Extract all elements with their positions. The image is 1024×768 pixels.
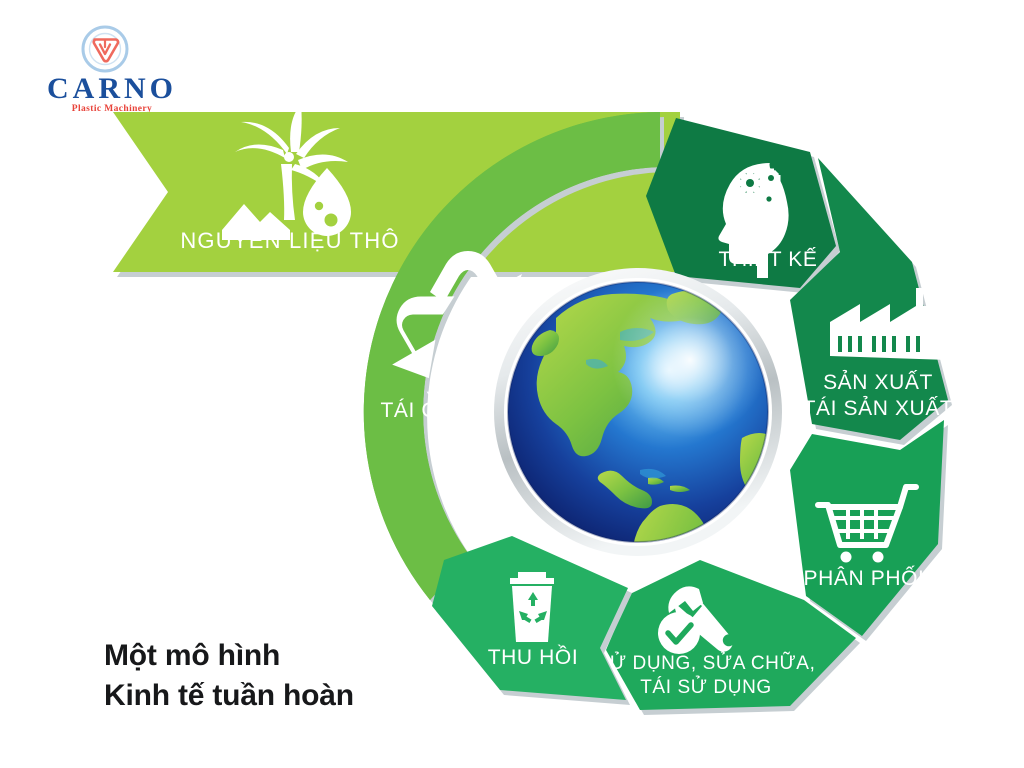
- segment-label-nguyen-lieu-tho: NGUYÊN LIỆU THÔ: [180, 228, 399, 253]
- recycle-bin-icon: [510, 572, 554, 642]
- segment-label-san-xuat-line2: TÁI SẢN XUẤT: [803, 397, 954, 420]
- segment-label-su-dung: SỬ DỤNG, SỬA CHỮA,: [597, 652, 816, 674]
- segment-label-tai-che: TÁI CHẾ: [380, 399, 467, 422]
- segment-label-phan-phoi: PHÂN PHỐI: [804, 566, 925, 590]
- segment-label-san-xuat: SẢN XUẤT: [823, 371, 933, 394]
- segment-label-su-dung-line2: TÁI SỬ DỤNG: [640, 676, 772, 698]
- circular-economy-infographic: CARNO Plastic Machinery Một mô hình Kinh…: [0, 0, 1024, 768]
- circular-diagram: NGUYÊN LIỆU THÔ TÁI CHẾ: [0, 0, 1024, 768]
- segment-thu-hoi[interactable]: THU HỒI: [432, 536, 632, 705]
- segment-thiet-ke[interactable]: THIẾT KẾ: [646, 118, 840, 293]
- segment-label-thu-hoi: THU HỒI: [488, 645, 579, 669]
- segment-label-thiet-ke: THIẾT KẾ: [719, 248, 818, 271]
